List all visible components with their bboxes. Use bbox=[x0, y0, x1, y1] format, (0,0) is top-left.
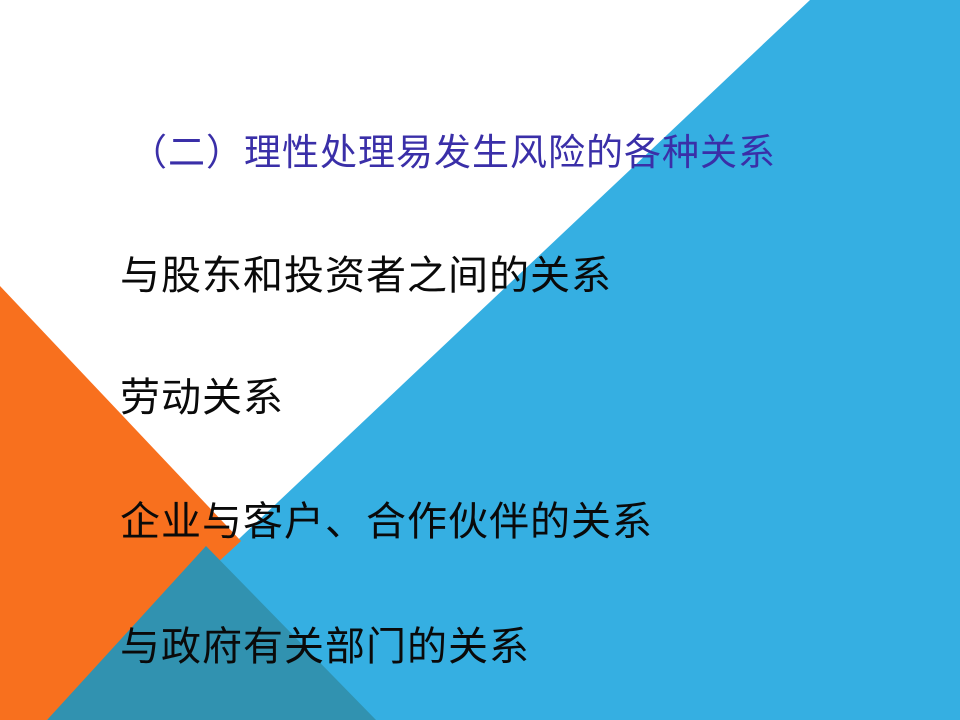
bullet-line-3: 企业与客户、合作伙伴的关系 bbox=[120, 498, 653, 546]
bullet-line-2: 劳动关系 bbox=[120, 374, 284, 422]
presentation-slide: （二）理性处理易发生风险的各种关系 与股东和投资者之间的关系 劳动关系 企业与客… bbox=[0, 0, 960, 720]
slide-content: （二）理性处理易发生风险的各种关系 与股东和投资者之间的关系 劳动关系 企业与客… bbox=[0, 0, 960, 720]
slide-title: （二）理性处理易发生风险的各种关系 bbox=[130, 132, 776, 176]
bullet-line-1: 与股东和投资者之间的关系 bbox=[120, 252, 612, 300]
bullet-line-4: 与政府有关部门的关系 bbox=[120, 623, 530, 671]
